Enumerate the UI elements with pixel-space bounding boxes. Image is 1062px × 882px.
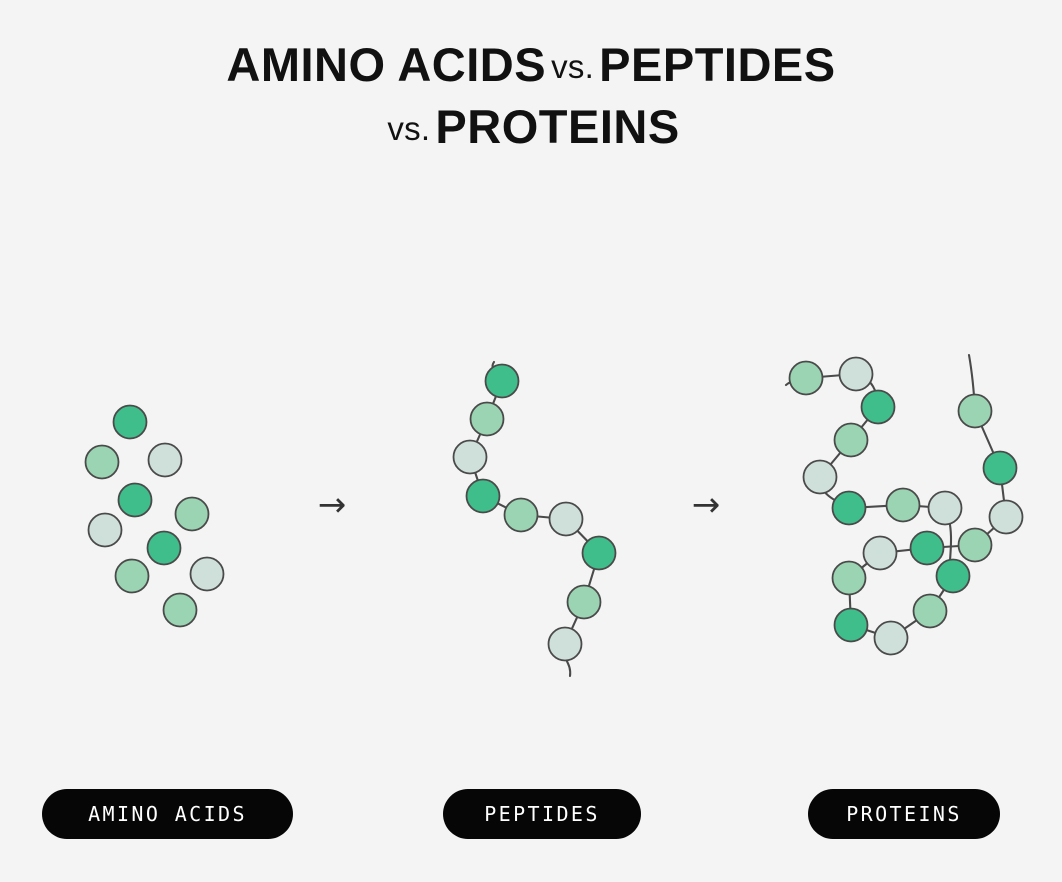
peptides-node-3	[467, 480, 500, 513]
proteins-node-0	[790, 362, 823, 395]
protein-tail-second	[969, 355, 975, 411]
peptide-link	[487, 381, 502, 419]
title-peptides: PEPTIDES	[599, 38, 835, 91]
page-title: AMINO ACIDSvs.PEPTIDES vs.PROTEINS	[0, 34, 1062, 158]
peptide-backbone	[470, 362, 599, 676]
protein-link	[806, 374, 856, 378]
proteins-node-1	[840, 358, 873, 391]
title-line-2: vs.PROTEINS	[0, 96, 1062, 158]
title-amino-acids: AMINO ACIDS	[226, 38, 546, 91]
pill-peptides-label: PEPTIDES	[484, 802, 600, 826]
amino-acids-node-8	[191, 558, 224, 591]
peptides-node-1	[471, 403, 504, 436]
protein-tail-start	[786, 378, 806, 385]
proteins-node-10	[990, 501, 1023, 534]
amino-acids-node-1	[86, 446, 119, 479]
label-row: AMINO ACIDS PEPTIDES PROTEINS	[0, 789, 1062, 839]
pill-proteins[interactable]: PROTEINS	[808, 789, 1000, 839]
amino-acids-node-6	[148, 532, 181, 565]
protein-link	[856, 374, 878, 407]
peptide-tail-end	[564, 644, 570, 676]
proteins-node-11	[959, 529, 992, 562]
protein-link	[849, 553, 880, 578]
proteins-node-14	[833, 562, 866, 595]
proteins-node-13	[864, 537, 897, 570]
amino-acids-node-4	[176, 498, 209, 531]
peptide-link	[521, 515, 566, 519]
proteins-node-17	[914, 595, 947, 628]
proteins-node-2	[862, 391, 895, 424]
protein-link	[975, 517, 1006, 545]
peptide-tail-start	[493, 362, 502, 381]
proteins-node-6	[887, 489, 920, 522]
pill-peptides[interactable]: PEPTIDES	[443, 789, 641, 839]
protein-link	[1000, 468, 1006, 517]
protein-link	[851, 625, 891, 638]
protein-link	[927, 545, 975, 548]
peptide-link	[566, 519, 599, 553]
pill-amino-acids[interactable]: AMINO ACIDS	[42, 789, 293, 839]
peptide-link	[470, 457, 483, 496]
title-vs-2: vs.	[382, 110, 435, 147]
peptide-link	[565, 602, 584, 644]
protein-link-crossing	[945, 508, 951, 585]
proteins-node-3	[835, 424, 868, 457]
amino-acids-node-9	[164, 594, 197, 627]
peptide-link	[483, 496, 521, 515]
protein-link	[820, 477, 849, 508]
proteins-node-15	[835, 609, 868, 642]
proteins-node-18	[937, 560, 970, 593]
peptides-node-6	[583, 537, 616, 570]
protein-link	[975, 411, 1000, 468]
proteins-node-9	[984, 452, 1017, 485]
peptides-node-4	[505, 499, 538, 532]
amino-acids-node-0	[114, 406, 147, 439]
amino-acids-node-3	[119, 484, 152, 517]
amino-acids-node-2	[149, 444, 182, 477]
title-vs-1: vs.	[546, 48, 599, 85]
proteins-node-12	[911, 532, 944, 565]
arrow-peptides-to-proteins: →	[684, 483, 728, 527]
protein-backbone	[786, 355, 1006, 638]
proteins-node-8	[959, 395, 992, 428]
title-line-1: AMINO ACIDSvs.PEPTIDES	[0, 34, 1062, 96]
peptide-link	[584, 553, 599, 602]
peptides-node-2	[454, 441, 487, 474]
proteins-node-16	[875, 622, 908, 655]
peptides-node-8	[549, 628, 582, 661]
peptide-link	[470, 419, 487, 457]
amino-acids-node-7	[116, 560, 149, 593]
proteins-node-4	[804, 461, 837, 494]
title-proteins: PROTEINS	[435, 100, 679, 153]
protein-link	[820, 440, 851, 477]
peptides-node-5	[550, 503, 583, 536]
protein-link	[891, 611, 930, 638]
proteins-node-5	[833, 492, 866, 525]
protein-link	[903, 505, 945, 508]
proteins-node-7	[929, 492, 962, 525]
protein-link	[849, 505, 903, 508]
protein-link	[849, 578, 851, 625]
molecule-nodes	[86, 358, 1023, 661]
peptides-node-7	[568, 586, 601, 619]
peptides-node-0	[486, 365, 519, 398]
protein-link	[880, 548, 927, 553]
amino-acids-node-5	[89, 514, 122, 547]
pill-amino-acids-label: AMINO ACIDS	[88, 802, 247, 826]
protein-link	[851, 407, 878, 440]
protein-link	[930, 576, 953, 611]
arrow-amino-to-peptides: →	[310, 483, 354, 527]
pill-proteins-label: PROTEINS	[846, 802, 962, 826]
